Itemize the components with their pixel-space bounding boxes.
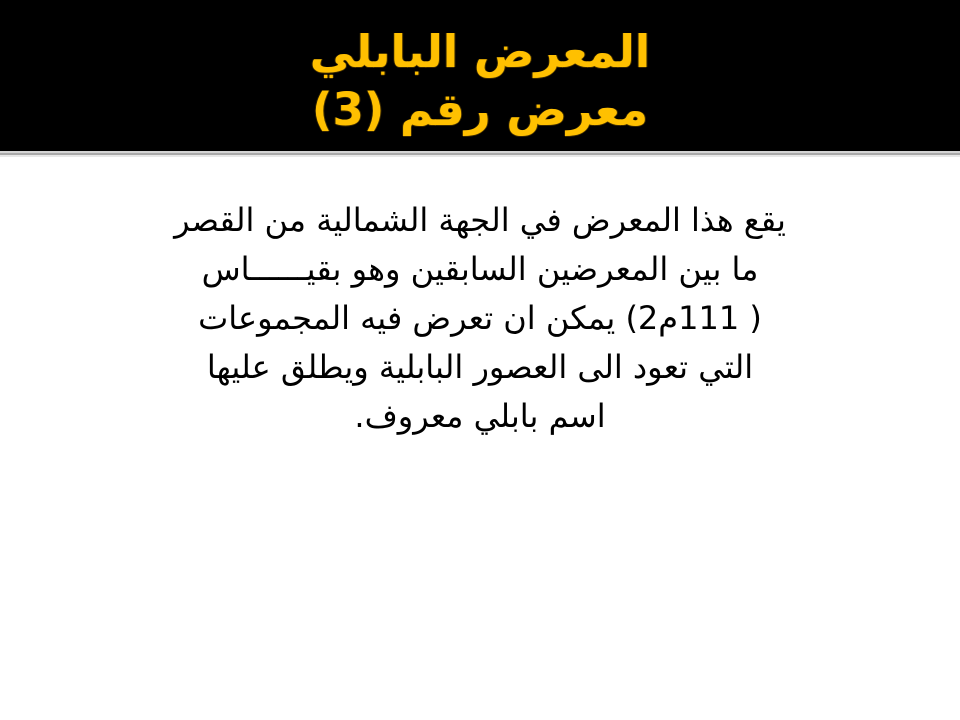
body-text-line: التي تعود الى العصور البابلية ويطلق عليه… — [80, 343, 880, 392]
slide-title-line-2: معرض رقم (3) — [312, 80, 648, 140]
slide: المعرض البابلي معرض رقم (3) يقع هذا المع… — [0, 0, 960, 720]
slide-title-banner: المعرض البابلي معرض رقم (3) — [0, 0, 960, 151]
body-text-line: ما بين المعرضين السابقين وهو بقيــــــاس — [80, 245, 880, 294]
slide-title-line-1: المعرض البابلي — [310, 22, 650, 82]
divider-bar-bottom — [0, 155, 960, 157]
body-text-line: اسم بابلي معروف. — [80, 392, 880, 441]
slide-body-text: يقع هذا المعرض في الجهة الشمالية من القص… — [80, 196, 880, 441]
header-divider — [0, 151, 960, 159]
body-text-line: ( 111م2) يمكن ان تعرض فيه المجموعات — [80, 294, 880, 343]
body-text-line: يقع هذا المعرض في الجهة الشمالية من القص… — [80, 196, 880, 245]
